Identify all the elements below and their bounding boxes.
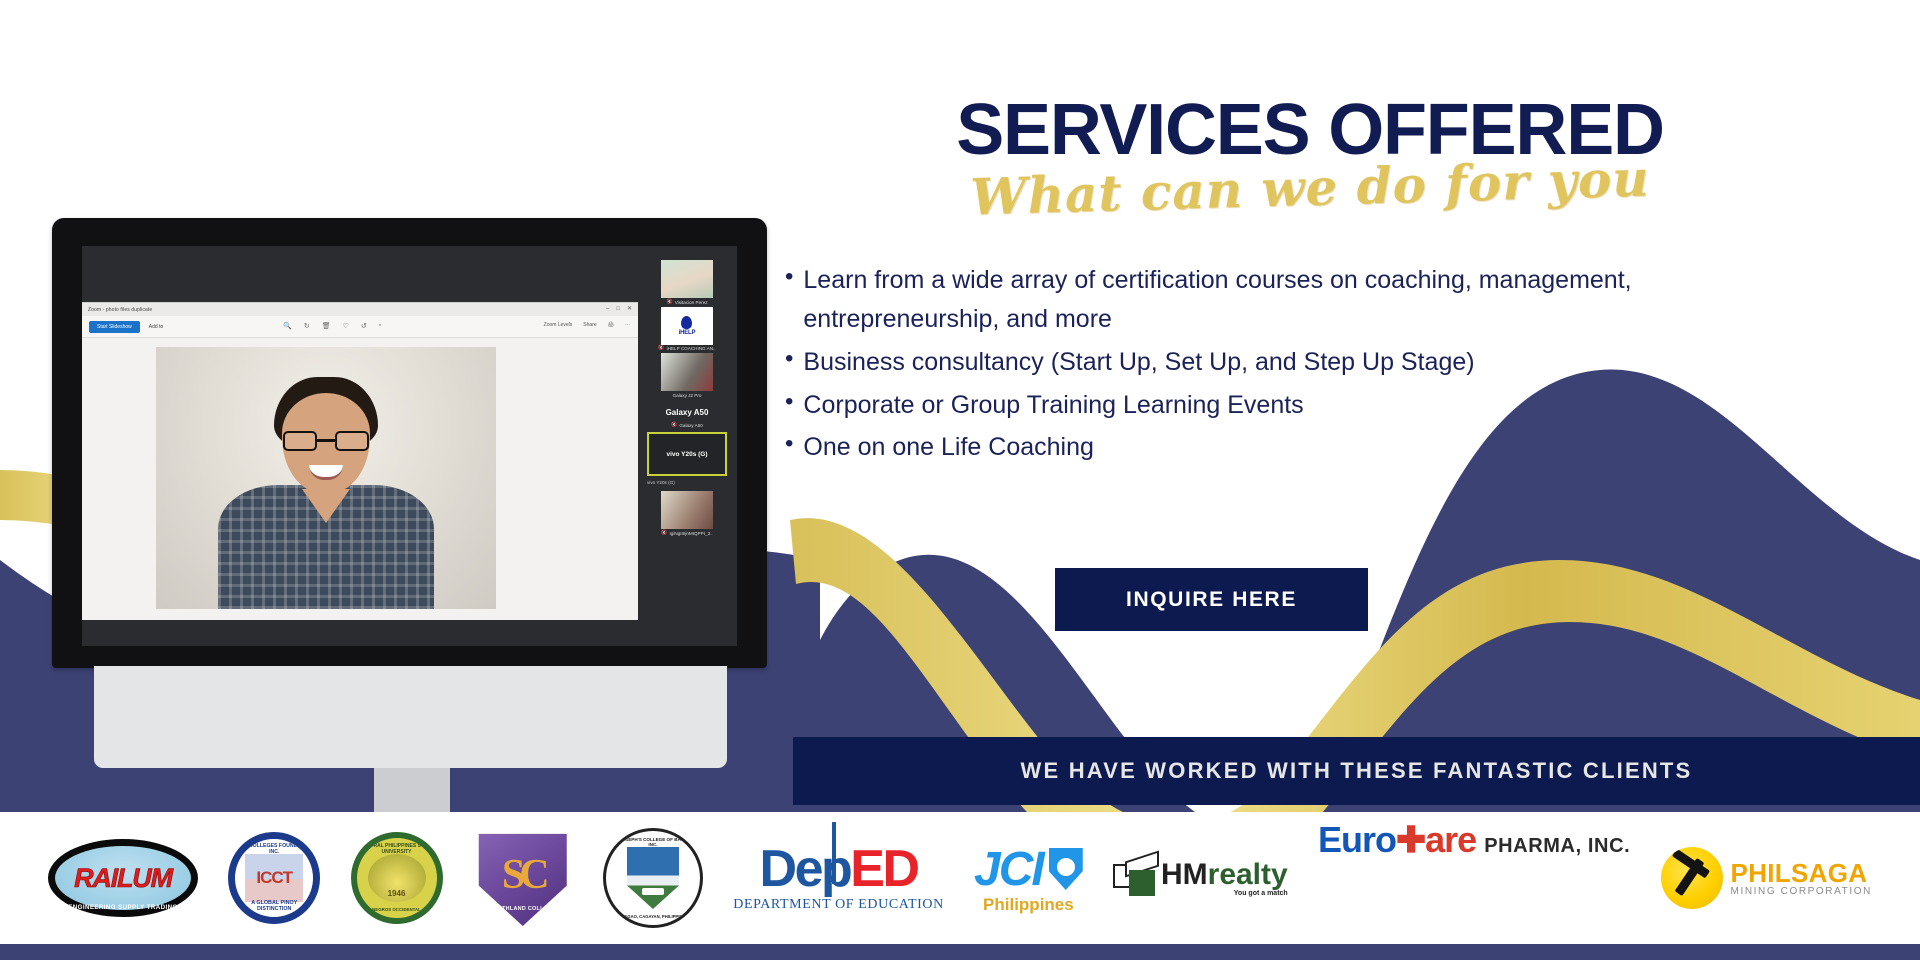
logo-cpsu[interactable]: CENTRAL PHILIPPINES STATE UNIVERSITY 194… [351,819,443,937]
participant-name-row: Galaxy J2 Pro [673,393,702,398]
logo-jci-sub: Philippines [983,895,1074,915]
list-item-label: Learn from a wide array of certification… [803,261,1763,339]
clients-banner-label: WE HAVE WORKED WITH THESE FANTASTIC CLIE… [1021,758,1693,784]
heart-icon[interactable]: ♡ [343,322,349,330]
logo-hmrealty-h: HM [1161,858,1208,891]
open-book-icon [642,888,664,895]
ihelp-logo-icon [681,316,692,329]
logo-philsaga-sub: MINING CORPORATION [1731,886,1872,897]
monitor-chin [94,666,727,768]
logo-hmrealty-name: HMrealty [1161,860,1288,890]
maximize-icon[interactable]: □ [616,306,620,312]
participant-name: IgiNgIIIIjnMIQPPI_3.. [670,531,713,536]
rotate-icon[interactable]: ↻ [304,322,310,330]
more-options-icon[interactable]: ⋯ [625,322,630,328]
window-controls[interactable]: – □ ✕ [606,306,632,312]
participant-thumbnail [661,353,713,391]
zoom-meeting-window: Zoom - photo files duplicate – □ ✕ Start… [82,246,737,646]
bullet-dot-icon: • [785,343,793,375]
print-icon[interactable]: 🖨 [608,322,614,328]
participant-name: Galaxy J2 Pro [673,393,702,398]
bullet-dot-icon: • [785,428,793,460]
logo-eurocare-wordmark: Euro✚are [1318,819,1476,861]
logo-sjcb-top: ST. JOSEPH'S COLLEGE OF BAGGAO INC. [606,837,700,847]
mic-muted-icon: 🔇 [666,300,672,305]
minimize-icon[interactable]: – [606,306,609,312]
list-item: • One on one Life Coaching [785,428,1865,467]
active-speaker-name: vivo Y20s (G) [666,451,707,458]
list-item[interactable]: iHELP 🔇 iHELP COACHING AN.. [643,307,731,352]
clients-banner: WE HAVE WORKED WITH THESE FANTASTIC CLIE… [793,737,1920,805]
desktop-monitor: Zoom - photo files duplicate – □ ✕ Start… [52,218,767,668]
list-item: • Learn from a wide array of certificati… [785,261,1865,339]
logo-sjcb-shield [627,847,679,909]
list-item[interactable]: Galaxy J2 Pro [643,353,731,398]
logo-jci-philippines[interactable]: JCI Philippines [974,819,1083,937]
participant-name-row: 🔇 Visitacion Perez [666,300,707,305]
logo-deped-wordmark: Dep ED [760,843,918,895]
logo-icct[interactable]: ICCT COLLEGES FOUNDATION INC. ICCT A GLO… [228,819,320,937]
logo-icct-crest: ICCT [245,854,303,902]
logo-southland-monogram: SC [502,851,544,899]
logo-sjcb-bottom: BAGGAO, CAGAYAN, PHILIPPINES [606,914,700,919]
logo-jci-name: JCI [974,842,1043,897]
logo-cpsu-bottom: NEGROS OCCIDENTAL [357,907,437,912]
list-item: • Business consultancy (Start Up, Set Up… [785,343,1865,382]
bullet-dot-icon: • [785,386,793,418]
services-content: SERVICES OFFERED What can we do for you … [755,96,1865,471]
ihelp-logo-text: iHELP [679,330,696,336]
pickaxe-icon [1661,847,1723,909]
participant-thumbnail [661,260,713,298]
document-title-bar: Zoom - photo files duplicate – □ ✕ [82,303,638,316]
logo-railum-sub: ENGINEERING SUPPLY TRADING [55,904,191,911]
logo-icct-bottom: A GLOBAL PINOY DISTINCTION [235,900,313,912]
logo-hmrealty-m: realty [1208,858,1288,891]
list-item-label: One on one Life Coaching [803,428,1094,467]
participant-name-row: 🔇 IgiNgIIIIjnMIQPPI_3.. [661,531,712,536]
services-offered-banner: Zoom - photo files duplicate – □ ✕ Start… [0,0,1920,960]
logo-railum[interactable]: RAILUM ENGINEERING SUPPLY TRADING [48,819,198,937]
presenter-glasses-icon [283,431,369,451]
participant-name: Visitacion Perez [675,300,708,305]
torch-icon [832,827,846,899]
services-list: • Learn from a wide array of certificati… [755,261,1865,467]
logo-icct-abbr: ICCT [256,868,292,888]
logo-hmrealty-sub: You got a match [1161,890,1288,897]
toolbar-icon-group: 🔍 ↻ 🗑 ♡ ↺ ▫ [283,322,381,330]
mic-muted-icon: 🔇 [661,531,667,536]
zoom-levels-label[interactable]: Zoom Levels [544,322,573,328]
list-item-label: Business consultancy (Start Up, Set Up, … [803,343,1474,382]
client-logo-row: RAILUM ENGINEERING SUPPLY TRADING ICCT C… [0,812,1920,944]
jci-shield-icon [1049,848,1083,890]
trash-icon[interactable]: ▫ [379,322,381,330]
active-speaker-tile[interactable]: vivo Y20s (G) [647,432,727,476]
logo-hmrealty[interactable]: HMrealty You got a match [1113,819,1288,937]
logo-eurocare-pharma-text: PHARMA, INC. [1484,835,1630,858]
logo-euro-text: Euro [1318,819,1396,860]
spotlight-participant-label: Galaxy A50 [666,408,709,417]
participant-name: Galaxy A50 [679,423,703,428]
participant-name-row: 🔇 iHELP COACHING AN.. [658,346,715,351]
list-item: • Corporate or Group Training Learning E… [785,386,1865,425]
logo-cpsu-top: CENTRAL PHILIPPINES STATE UNIVERSITY [357,843,437,855]
list-item-label: Corporate or Group Training Learning Eve… [803,386,1303,425]
plus-cross-icon: ✚ [1396,819,1425,860]
active-speaker-caption: vivo Y20s (G) [647,480,675,485]
share-label[interactable]: Share [583,322,596,328]
presenter-photo [156,347,496,609]
mic-muted-icon: 🔇 [671,423,677,428]
logo-southland-college[interactable]: SC SOUTHLAND COLLEGE [473,819,573,937]
logo-philsaga-name: PHILSAGA [1731,860,1872,886]
participant-name-row: 🔇 Galaxy A50 [671,423,703,428]
logo-deped-tagline: DEPARTMENT OF EDUCATION [733,897,944,913]
logo-railum-name: RAILUM [74,863,172,894]
presenter-collar [302,489,350,523]
undo-icon[interactable]: ↺ [361,322,367,330]
document-toolbar: Start Slideshow Add to 🔍 ↻ 🗑 ♡ ↺ ▫ Zoom … [82,316,638,338]
delete-icon[interactable]: 🗑 [322,322,331,330]
list-item[interactable]: 🔇 Visitacion Perez [643,260,731,305]
zoom-in-icon[interactable]: 🔍 [283,322,292,330]
logo-deped-ed: ED [850,843,917,895]
logo-eurocare-pharma[interactable]: Euro✚are PHARMA, INC. [1318,819,1630,937]
toolbar-right-group: Zoom Levels Share 🖨 ⋯ [544,322,630,328]
list-item[interactable]: 🔇 IgiNgIIIIjnMIQPPI_3.. [643,491,731,536]
inquire-here-button[interactable]: INQUIRE HERE [1055,568,1368,631]
logo-southland-name: SOUTHLAND COLLEGE [473,906,573,912]
logo-philsaga-mining[interactable]: PHILSAGA MINING CORPORATION [1661,819,1872,937]
presenter-shirt [218,485,434,609]
monitor-screen: Zoom - photo files duplicate – □ ✕ Start… [82,246,737,646]
add-to-button[interactable]: Add to [149,324,163,330]
participant-thumbnail [661,491,713,529]
participant-name: iHELP COACHING AN.. [667,346,716,351]
logo-cpsu-year: 1946 [357,889,437,898]
mic-muted-icon: 🔇 [658,346,664,351]
shared-document-window: Zoom - photo files duplicate – □ ✕ Start… [82,302,638,620]
close-icon[interactable]: ✕ [627,306,632,312]
logo-icct-top: ICCT COLLEGES FOUNDATION INC. [235,843,313,855]
puzzle-house-icon [1113,856,1159,900]
start-slideshow-button[interactable]: Start Slideshow [89,321,140,333]
logo-deped[interactable]: Dep ED DEPARTMENT OF EDUCATION [733,819,944,937]
logo-care-text: are [1425,819,1476,860]
document-title: Zoom - photo files duplicate [88,307,152,313]
participant-thumbnail: iHELP [661,307,713,345]
bullet-dot-icon: • [785,261,793,293]
globe-icon [1056,857,1076,877]
participant-strip: 🔇 Visitacion Perez iHELP 🔇 [641,260,733,634]
logo-st-josephs-college[interactable]: ST. JOSEPH'S COLLEGE OF BAGGAO INC. 1950… [603,819,703,937]
